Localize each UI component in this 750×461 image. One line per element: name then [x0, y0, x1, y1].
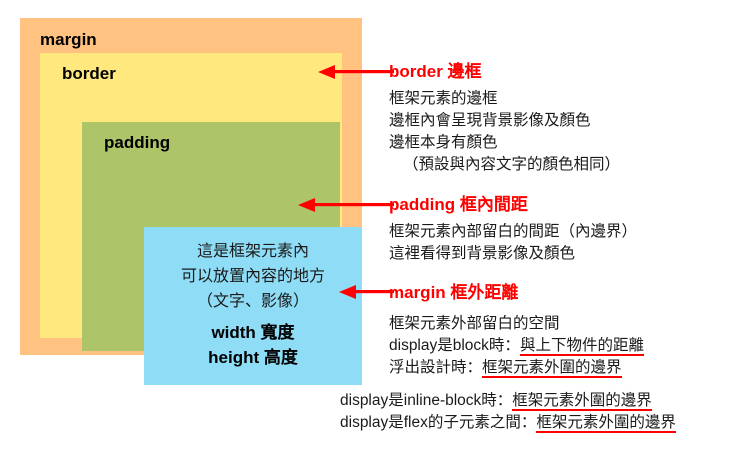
margin-annotation-line-2-emphasis: 與上下物件的距離 — [520, 337, 644, 356]
extra-annotation-line-2-emphasis: 框架元素外圍的邊界 — [536, 414, 676, 433]
margin-annotation-line-3-prefix: 浮出設計時： — [389, 359, 482, 376]
extra-annotation-line-2-prefix: display是flex的子元素之間： — [340, 414, 536, 431]
content-description: 這是框架元素內 可以放置內容的地方 （文字、影像） — [144, 239, 362, 314]
margin-annotation-line-2: display是block時：與上下物件的距離 — [389, 335, 644, 357]
border-arrow-left-icon — [318, 64, 394, 80]
extra-annotation-line-1-prefix: display是inline-block時： — [340, 392, 512, 409]
border-annotation-title: border 邊框 — [389, 63, 482, 80]
content-dimensions: width 寬度 height 高度 — [144, 320, 362, 370]
content-description-line-2: 可以放置內容的地方 — [144, 264, 362, 289]
margin-annotation-body: 框架元素外部留白的空間 display是block時：與上下物件的距離 浮出設計… — [389, 313, 644, 379]
border-layer: border padding 這是框架元素內 可以放置內容的地方 （文字、影像）… — [40, 53, 342, 338]
extra-annotation-line-1: display是inline-block時：框架元素外圍的邊界 — [340, 390, 676, 412]
content-description-line-3: （文字、影像） — [144, 289, 362, 314]
border-annotation-line-3: 邊框本身有顏色 — [389, 132, 620, 154]
padding-annotation-line-2: 這裡看得到背景影像及顏色 — [389, 243, 637, 265]
border-annotation-line-2: 邊框內會呈現背景影像及顏色 — [389, 110, 620, 132]
margin-layer: margin border padding 這是框架元素內 可以放置內容的地方 … — [20, 18, 362, 355]
margin-annotation-line-3: 浮出設計時：框架元素外圍的邊界 — [389, 357, 644, 379]
padding-annotation-title: padding 框內間距 — [389, 196, 528, 213]
box-model-diagram: margin border padding 這是框架元素內 可以放置內容的地方 … — [20, 18, 362, 355]
padding-annotation-line-1: 框架元素內部留白的間距（內邊界） — [389, 221, 637, 243]
padding-layer-label: padding — [104, 134, 170, 151]
margin-annotation-line-1: 框架元素外部留白的空間 — [389, 313, 644, 335]
content-height-label: height 高度 — [144, 345, 362, 370]
content-description-line-1: 這是框架元素內 — [144, 239, 362, 264]
margin-layer-label: margin — [40, 31, 97, 48]
content-layer: 這是框架元素內 可以放置內容的地方 （文字、影像） width 寬度 heigh… — [144, 227, 362, 385]
border-annotation-body: 框架元素的邊框 邊框內會呈現背景影像及顏色 邊框本身有顏色 （預設與內容文字的顏… — [389, 88, 620, 176]
padding-annotation-body: 框架元素內部留白的間距（內邊界） 這裡看得到背景影像及顏色 — [389, 221, 637, 265]
border-annotation-line-1: 框架元素的邊框 — [389, 88, 620, 110]
padding-layer: padding 這是框架元素內 可以放置內容的地方 （文字、影像） width … — [82, 122, 340, 351]
extra-annotation-line-1-emphasis: 框架元素外圍的邊界 — [512, 392, 652, 411]
content-width-label: width 寬度 — [144, 320, 362, 345]
extra-annotation-line-2: display是flex的子元素之間：框架元素外圍的邊界 — [340, 412, 676, 434]
padding-arrow-left-icon — [298, 197, 394, 213]
margin-annotation-title: margin 框外距離 — [389, 284, 518, 301]
border-annotation-line-4: （預設與內容文字的顏色相同） — [389, 154, 620, 176]
margin-annotation-line-2-prefix: display是block時： — [389, 337, 520, 354]
margin-annotation-line-3-emphasis: 框架元素外圍的邊界 — [482, 359, 622, 378]
margin-arrow-left-icon — [339, 284, 394, 300]
border-layer-label: border — [62, 65, 116, 82]
extra-annotation-body: display是inline-block時：框架元素外圍的邊界 display是… — [340, 390, 676, 434]
